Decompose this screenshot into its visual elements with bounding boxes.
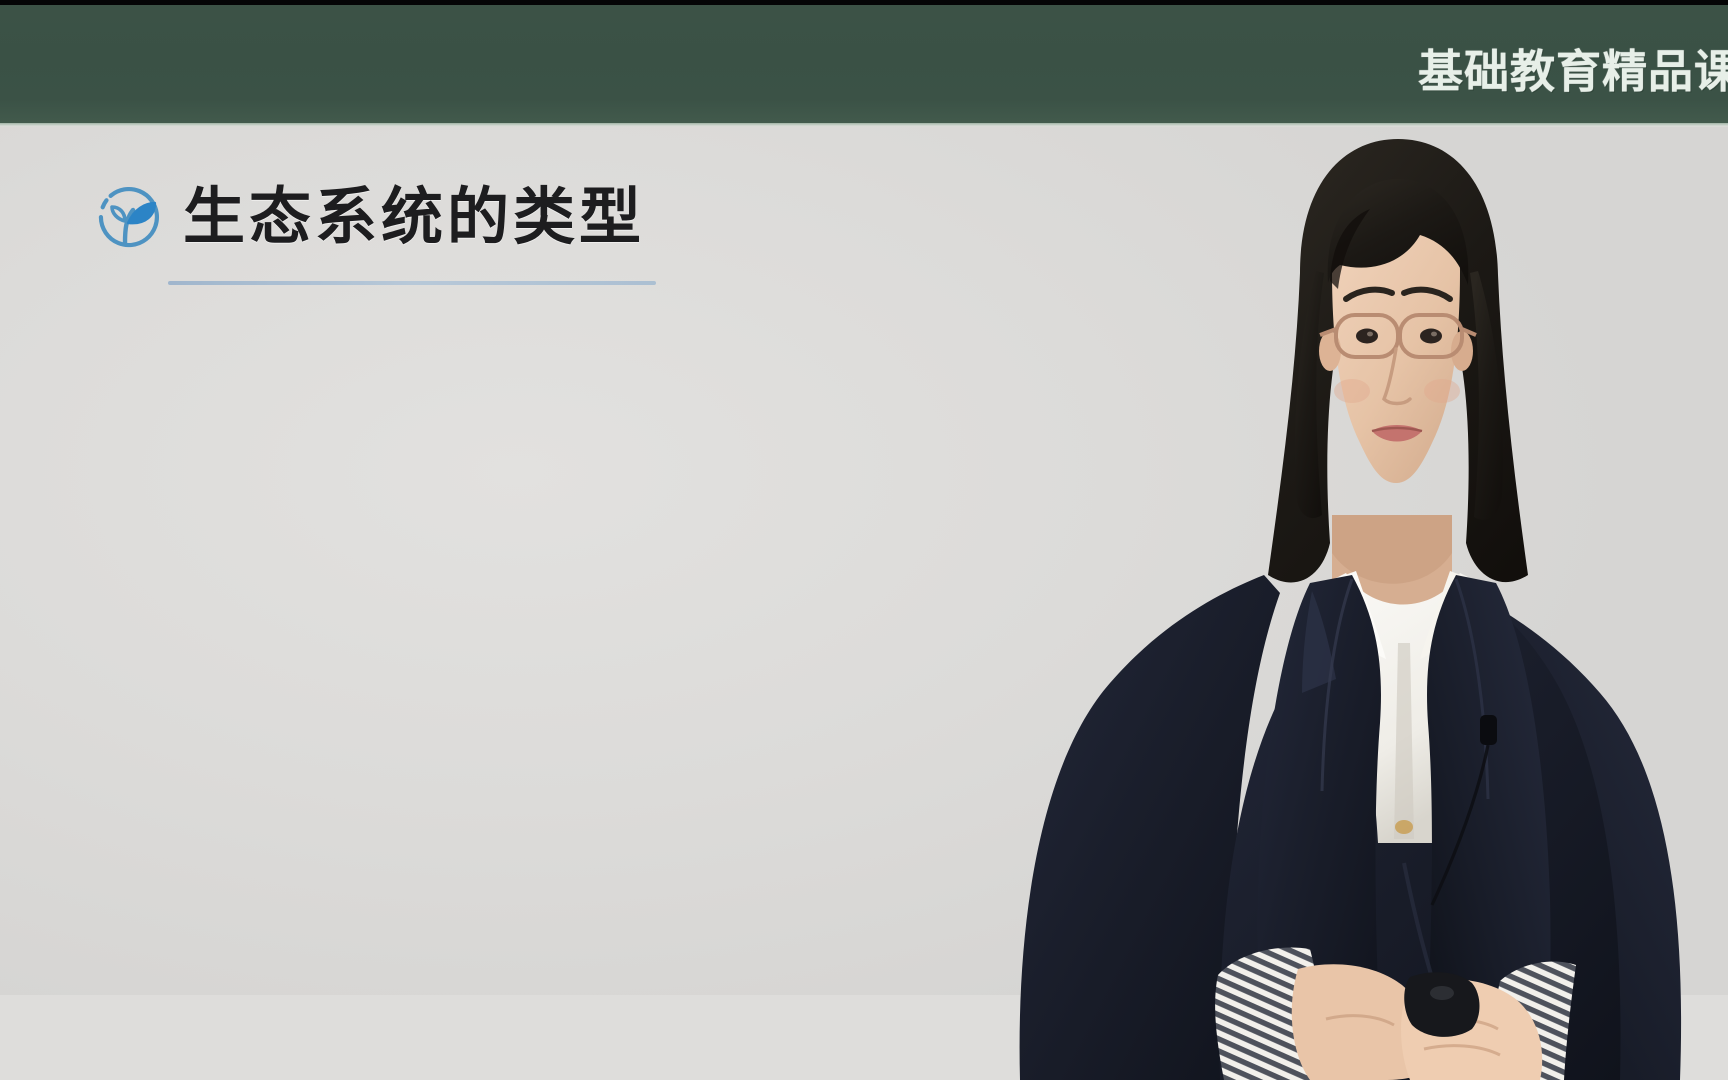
video-frame: 基础教育精品课 生态系统的类型: [0, 0, 1728, 1080]
slide-title-row: 生态系统的类型: [95, 181, 645, 253]
page-title: 生态系统的类型: [183, 181, 645, 253]
slide-canvas: 生态系统的类型: [0, 123, 1728, 995]
letterbox-bar-top: [0, 0, 1728, 5]
sprout-circle-logo-icon: [95, 183, 163, 251]
title-underline-rule: [168, 281, 656, 285]
program-banner-text: 基础教育精品课: [1418, 46, 1728, 98]
